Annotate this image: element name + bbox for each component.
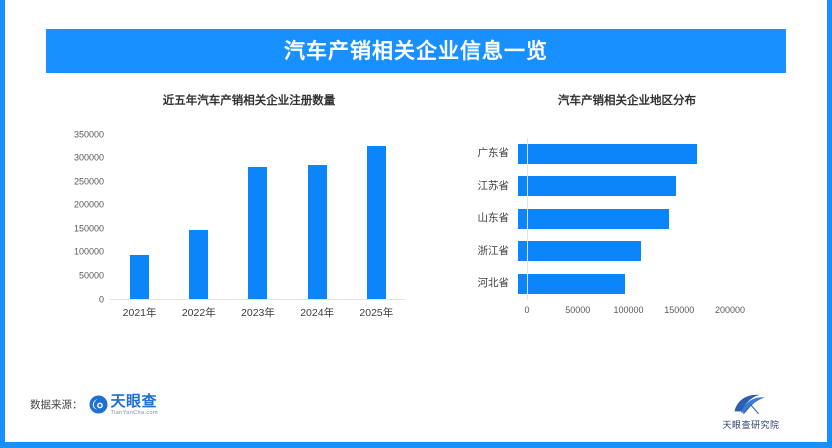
horizontal-bar-fill [518,176,676,196]
x-axis-category-label: 2025年 [347,308,406,319]
horizontal-bar-track [518,203,792,235]
horizontal-bar-row[interactable]: 河北省 [452,268,792,300]
y-axis-tick-label: 250000 [74,177,104,186]
frame-left-edge [0,0,5,448]
tianyancha-logo: 天眼查 TianYanCha.com [89,394,158,417]
horizontal-bar-row[interactable]: 江苏省 [452,170,792,202]
x-axis-category-label: 2022年 [169,308,228,319]
y-axis-tick-label: 200000 [74,201,104,210]
horizontal-bar-track [518,138,792,170]
horizontal-bar-fill [518,209,669,229]
x-axis-tick-labels: 050000100000150000200000 [527,306,730,320]
chart-panel-regions: 汽车产销相关企业地区分布 广东省江苏省山东省浙江省河北省 05000010000… [452,96,792,338]
vertical-bar[interactable] [347,134,406,299]
x-axis-category-label: 2023年 [228,308,287,319]
x-axis-tick-label: 200000 [715,306,745,315]
y-axis-tick-label: 350000 [74,130,104,139]
vertical-bar[interactable] [169,134,228,299]
horizontal-bar-series: 广东省江苏省山东省浙江省河北省 [452,138,792,300]
tianyancha-wordmark: 天眼查 TianYanCha.com [111,394,158,417]
frame-top-edge [0,0,832,3]
horizontal-bar-row[interactable]: 山东省 [452,203,792,235]
y-axis-tick-label: 150000 [74,224,104,233]
institute-logo-icon [732,392,770,418]
horizontal-bar-category-label: 山东省 [452,213,518,224]
vertical-bar[interactable] [228,134,287,299]
x-axis-category-label: 2024年 [288,308,347,319]
x-axis-line [110,299,406,300]
frame-right-edge [827,0,832,448]
horizontal-bar-track [518,268,792,300]
horizontal-bar-fill [518,241,641,261]
y-axis-tick-label: 100000 [74,248,104,257]
data-source-label: 数据来源： [30,400,83,411]
vertical-bar[interactable] [288,134,347,299]
horizontal-bar-row[interactable]: 浙江省 [452,235,792,267]
vertical-bar-fill [308,165,327,298]
header-banner: 汽车产销相关企业信息一览 [46,29,786,73]
y-axis-tick-label: 0 [99,295,104,304]
horizontal-bar-chart: 广东省江苏省山东省浙江省河北省 050000100000150000200000 [452,138,792,338]
horizontal-bar-category-label: 江苏省 [452,181,518,192]
vertical-bar-fill [248,167,267,299]
chart-title-registrations: 近五年汽车产销相关企业注册数量 [52,96,446,108]
frame-bottom-edge [0,442,832,448]
tianyancha-domain: TianYanCha.com [111,411,158,417]
chart-panel-registrations: 近五年汽车产销相关企业注册数量 050000100000150000200000… [46,96,446,349]
horizontal-bar-category-label: 河北省 [452,278,518,289]
data-source-footer: 数据来源： 天眼查 TianYanCha.com [30,394,158,417]
page-title: 汽车产销相关企业信息一览 [284,41,548,62]
horizontal-bar-row[interactable]: 广东省 [452,138,792,170]
tianyancha-eye-icon [89,395,108,414]
vertical-bar[interactable] [110,134,169,299]
vertical-bar-fill [367,146,386,299]
y-axis-tick-label: 300000 [74,154,104,163]
x-axis-tick-label: 150000 [664,306,694,315]
horizontal-bar-track [518,170,792,202]
y-axis-tick-label: 50000 [79,271,104,280]
horizontal-bar-track [518,235,792,267]
vertical-bar-chart: 0500001000001500002000002500003000003500… [46,134,446,349]
x-axis-tick-label: 100000 [613,306,643,315]
x-axis-category-labels: 2021年2022年2023年2024年2025年 [110,308,406,319]
horizontal-bar-fill [518,144,697,164]
chart-title-regions: 汽车产销相关企业地区分布 [462,96,792,108]
y-axis-tick-labels: 0500001000001500002000002500003000003500… [46,134,104,300]
institute-badge: 天眼查研究院 [708,392,794,430]
vertical-bar-series [110,134,406,299]
y-axis-line [527,138,528,300]
vertical-chart-plot-area [110,134,406,300]
vertical-bar-fill [130,255,149,299]
x-axis-category-label: 2021年 [110,308,169,319]
tianyancha-name: 天眼查 [111,394,158,409]
x-axis-tick-label: 50000 [565,306,590,315]
horizontal-bar-category-label: 浙江省 [452,246,518,257]
x-axis-tick-label: 0 [524,306,529,315]
institute-name: 天眼查研究院 [722,421,779,430]
infographic-page: 汽车产销相关企业信息一览 近五年汽车产销相关企业注册数量 05000010000… [0,0,832,448]
horizontal-bar-category-label: 广东省 [452,148,518,159]
vertical-bar-fill [189,230,208,299]
horizontal-bar-fill [518,274,625,294]
